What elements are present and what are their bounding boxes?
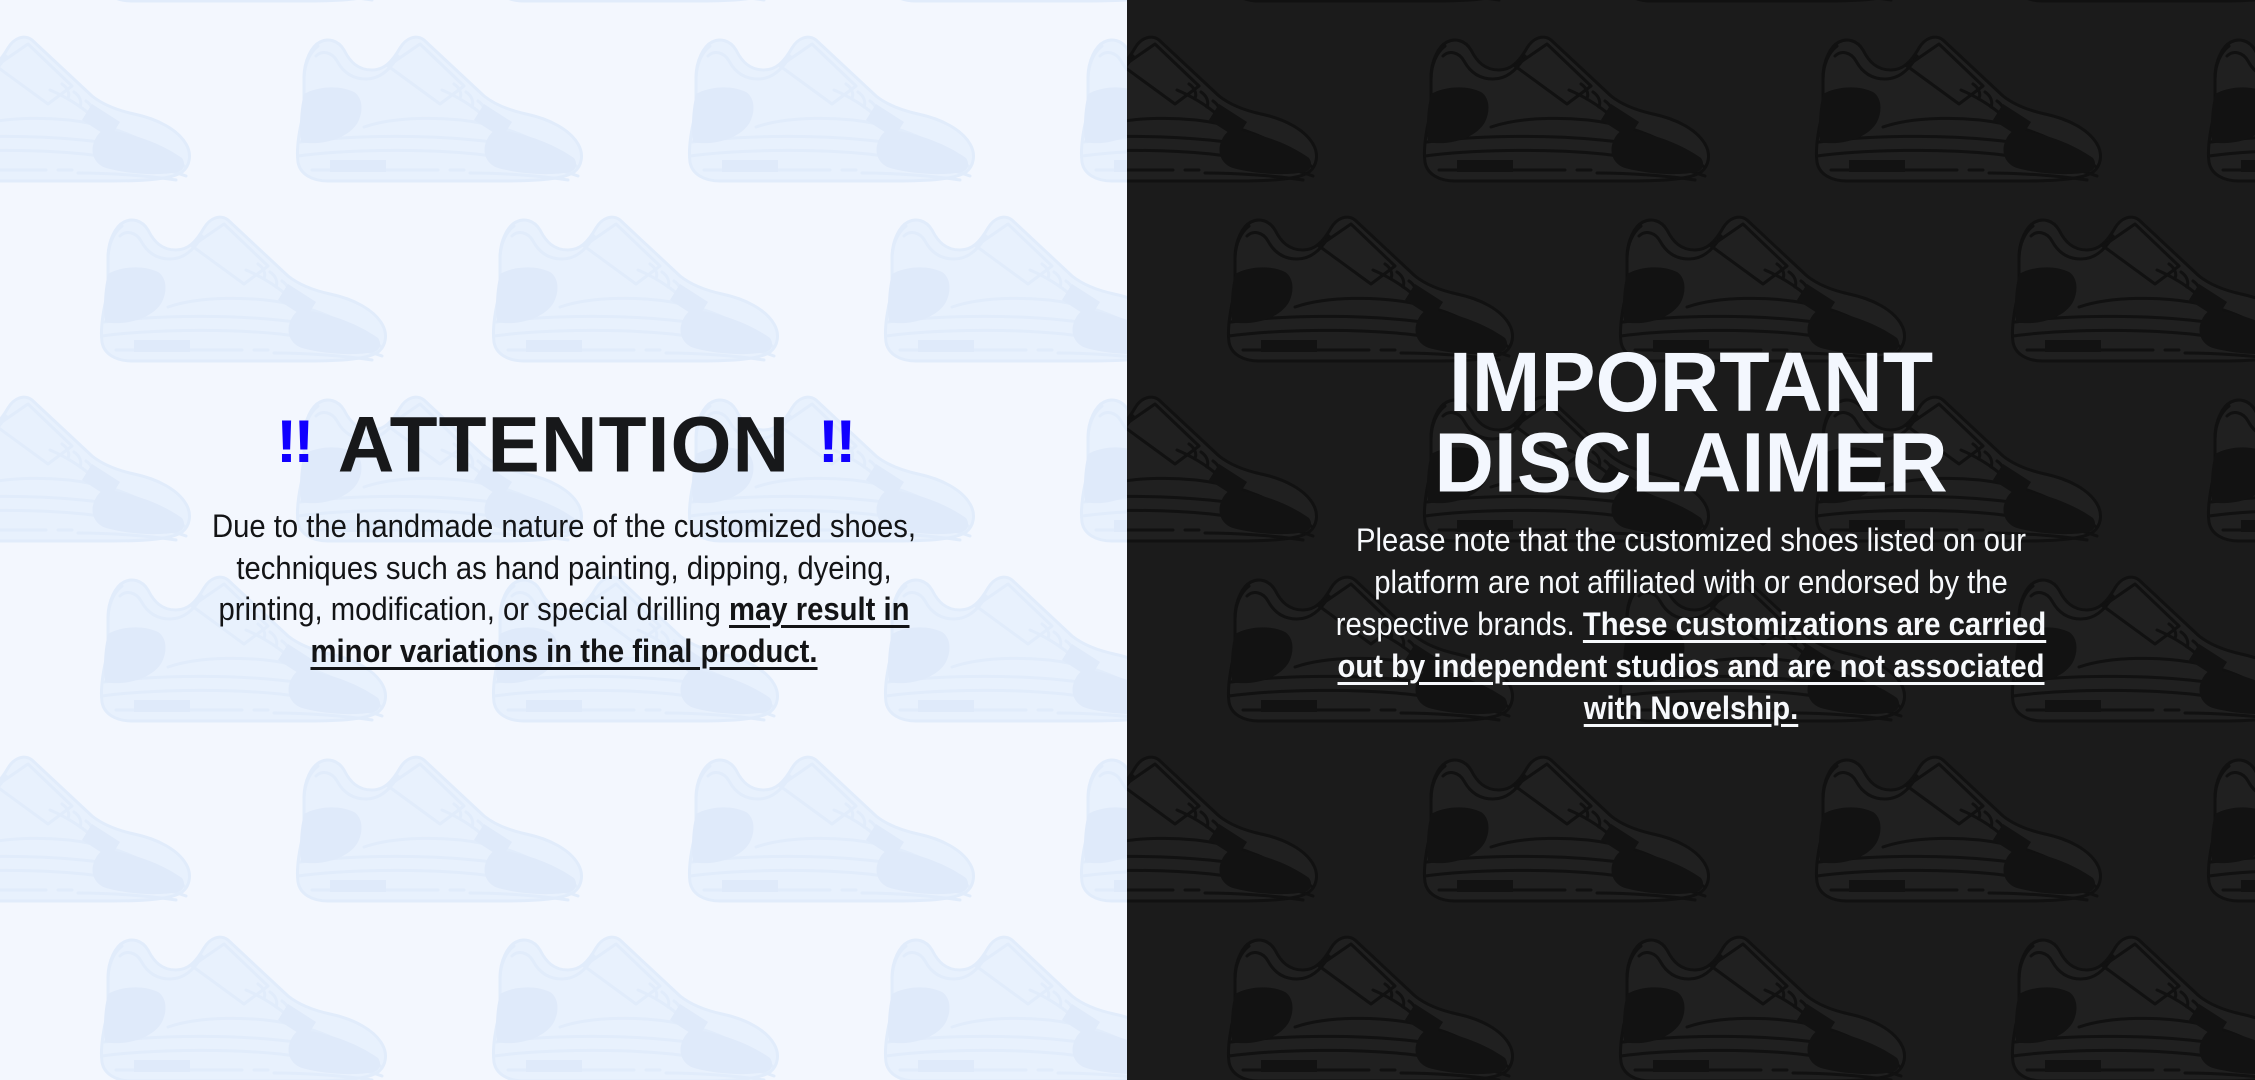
double-exclamation-icon-right: ‼ [817, 412, 851, 472]
sneaker-icon [2003, 930, 2255, 1080]
sneaker-icon [680, 750, 980, 915]
sneaker-icon [484, 930, 784, 1080]
sneaker-icon [1072, 750, 1127, 915]
sneaker-icon [1415, 750, 1715, 915]
sneaker-icon [288, 750, 588, 915]
attention-body: Due to the handmade nature of the custom… [195, 506, 933, 674]
sneaker-icon [1219, 0, 1519, 15]
disclaimer-heading-line-1: IMPORTANT [1207, 342, 2175, 423]
sneaker-icon [1127, 750, 1323, 915]
sneaker-icon [2199, 750, 2255, 915]
disclaimer-body: Please note that the customized shoes li… [1313, 520, 2069, 730]
double-exclamation-icon-left: ‼ [275, 412, 309, 472]
sneaker-icon [0, 30, 196, 195]
sneaker-icon [1807, 750, 2107, 915]
attention-heading: ‼ ATTENTION ‼ [87, 407, 1041, 484]
sneaker-icon [1611, 0, 1911, 15]
disclaimer-heading: IMPORTANT DISCLAIMER [1207, 342, 2175, 503]
sneaker-icon [876, 0, 1127, 15]
sneaker-icon [876, 210, 1127, 375]
sneaker-icon [1127, 30, 1323, 195]
disclaimer-heading-line-2: DISCLAIMER [1207, 422, 2175, 503]
attention-panel: ‼ ATTENTION ‼ Due to the handmade nature… [0, 0, 1127, 1080]
sneaker-icon [92, 210, 392, 375]
sneaker-icon [1219, 930, 1519, 1080]
sneaker-icon [288, 30, 588, 195]
sneaker-icon [2199, 30, 2255, 195]
sneaker-icon [1807, 30, 2107, 195]
sneaker-icon [484, 210, 784, 375]
sneaker-icon [92, 0, 392, 15]
sneaker-icon [680, 30, 980, 195]
sneaker-icon [1072, 390, 1127, 555]
sneaker-icon [484, 0, 784, 15]
disclaimer-panel: IMPORTANT DISCLAIMER Please note that th… [1127, 0, 2255, 1080]
sneaker-icon [1611, 930, 1911, 1080]
attention-heading-text: ATTENTION [337, 404, 790, 486]
sneaker-icon [2003, 0, 2255, 15]
sneaker-icon [0, 750, 196, 915]
attention-content: ‼ ATTENTION ‼ Due to the handmade nature… [114, 407, 1014, 674]
sneaker-icon [876, 930, 1127, 1080]
sneaker-icon [1072, 30, 1127, 195]
sneaker-icon [92, 930, 392, 1080]
sneaker-icon [2199, 390, 2255, 555]
sneaker-icon [1415, 30, 1715, 195]
disclaimer-content: IMPORTANT DISCLAIMER Please note that th… [1251, 350, 2131, 730]
disclaimer-banner: ‼ ATTENTION ‼ Due to the handmade nature… [0, 0, 2255, 1080]
